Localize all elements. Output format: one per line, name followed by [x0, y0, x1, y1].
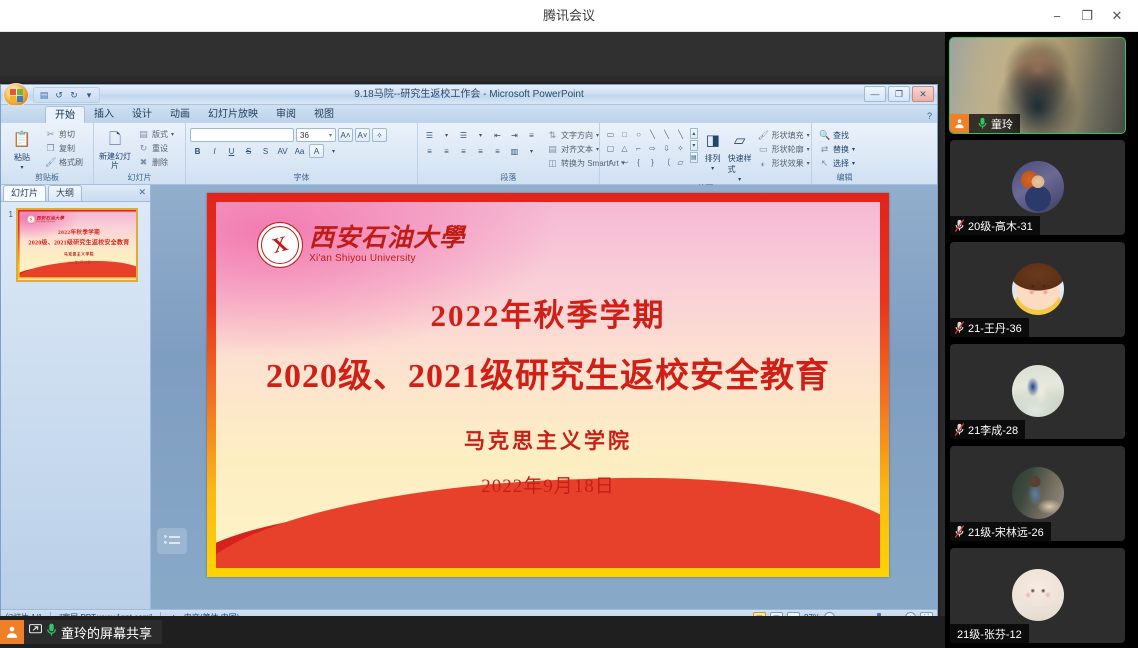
- select-caret-icon: ▾: [852, 160, 855, 167]
- group-label-clipboard: 剪贴板: [5, 172, 89, 184]
- font-name-input[interactable]: [190, 128, 294, 142]
- bulleted-list-caret-icon[interactable]: ▾: [439, 128, 454, 142]
- tab-review[interactable]: 审阅: [267, 106, 305, 123]
- shape-arrowline-icon[interactable]: ╲: [660, 128, 673, 141]
- tab-slideshow[interactable]: 幻灯片放映: [199, 106, 267, 123]
- change-case-icon[interactable]: Aa: [292, 144, 307, 158]
- powerpoint-document-title: 9.18马院--研究生返校工作会 - Microsoft PowerPoint: [1, 85, 937, 105]
- microphone-muted-icon: [950, 318, 964, 337]
- participant-namebar: 21李成-28: [950, 420, 1025, 439]
- shapes-scroller[interactable]: ▴ ▾ ▤: [690, 128, 698, 163]
- participant-name: 童玲: [991, 116, 1013, 132]
- thumb-logo-text: 西安石油大學 Xi'an Shiyou University: [36, 216, 64, 223]
- decrease-font-size-icon[interactable]: A˅: [355, 128, 370, 142]
- text-direction-icon: ⇅: [547, 130, 558, 141]
- shape-triangle-icon[interactable]: △: [618, 142, 631, 155]
- slide-title-block[interactable]: 2022年秋季学期 2020级、2021级研究生返校安全教育: [216, 290, 880, 397]
- participant-name: 21级-宋林远-26: [968, 524, 1044, 540]
- thumb-date: 2022年9月18日: [20, 260, 138, 265]
- university-logo: X 西安石油大學 Xi'an Shiyou University: [257, 222, 465, 268]
- shape-arc-icon[interactable]: ◜: [604, 156, 617, 169]
- ribbon-group-font: 36▾ A˄ A˅ ✧ B I U S S AV Aa: [185, 123, 417, 184]
- slide-title-line2: 2020级、2021级研究生返校安全教育: [216, 348, 880, 397]
- slide-surface[interactable]: X 西安石油大學 Xi'an Shiyou University 2022年秋季…: [207, 193, 889, 577]
- shape-effects-label: 形状效果: [772, 158, 804, 169]
- powerpoint-workspace: 幻灯片 大纲 ✕ 1: [1, 185, 937, 609]
- ppt-minimize-icon[interactable]: —: [864, 86, 886, 102]
- font-size-input[interactable]: 36▾: [296, 128, 336, 142]
- new-slide-icon: 🗋: [103, 128, 127, 151]
- shape-connector-icon[interactable]: ╲: [674, 128, 687, 141]
- columns-caret-icon[interactable]: ▾: [524, 144, 539, 158]
- ribbon-group-paragraph: ☰ ▾ ☰ ▾ ⇤ ⇥ ≡ ≡ ≡ ≡: [417, 123, 599, 184]
- university-seal-icon: X: [257, 222, 303, 268]
- participant-tile-licheng[interactable]: 21李成-28: [950, 344, 1125, 439]
- reset-button[interactable]: ↻ 重设: [135, 142, 177, 155]
- underline-icon[interactable]: U: [224, 144, 239, 158]
- thumb-title-block: 2022年秋季学期 2020级、2021级研究生返校安全教育: [20, 227, 138, 246]
- participant-strip[interactable]: 童玲 20级-高木-31 21-王丹-36: [945, 32, 1138, 648]
- group-label-slides: 幻灯片: [98, 172, 181, 184]
- thumbnail-item[interactable]: 1 X: [5, 208, 146, 282]
- avatar: [1012, 160, 1064, 212]
- thumb-logo-en: Xi'an Shiyou University: [36, 221, 64, 223]
- avatar: [1012, 568, 1064, 620]
- shape-effects-caret-icon: ▾: [807, 160, 810, 167]
- shape-corner-icon[interactable]: ⌐: [632, 142, 645, 155]
- participant-namebar: 20级-高木-31: [950, 216, 1040, 235]
- format-painter-label: 格式刷: [59, 157, 83, 168]
- maximize-icon[interactable]: ❐: [1072, 1, 1102, 31]
- slide-thumbnail-content: X 西安石油大學 Xi'an Shiyou University: [18, 210, 138, 279]
- participant-name: 21级-张芬-12: [950, 626, 1022, 642]
- slide-thumbnail-1[interactable]: X 西安石油大學 Xi'an Shiyou University: [16, 208, 138, 282]
- bulleted-list-icon[interactable]: ☰: [422, 128, 437, 142]
- participant-namebar: 21级-张芬-12: [950, 624, 1029, 643]
- thumb-subtitle: 马克思主义学院: [20, 252, 138, 257]
- thumb-logo-cn: 西安石油大學: [36, 216, 64, 220]
- shape-line-icon[interactable]: ╲: [646, 128, 659, 141]
- find-label: 查找: [833, 130, 849, 141]
- microphone-muted-icon: [950, 420, 964, 439]
- clipboard-icon: 📋: [10, 128, 34, 151]
- arrange-button[interactable]: ◨ 排列 ▾: [701, 128, 725, 172]
- outline-toggle-button[interactable]: [157, 528, 187, 554]
- microphone-muted-icon: [950, 216, 964, 235]
- delete-label: 删除: [152, 157, 168, 168]
- paste-button[interactable]: 📋 粘贴 ▾: [5, 127, 39, 171]
- group-label-editing: 编辑: [816, 172, 873, 184]
- distribute-icon[interactable]: ≡: [490, 144, 505, 158]
- participant-name: 21李成-28: [968, 422, 1018, 438]
- powerpoint-window: ▤ ↺ ↻ ▾ 9.18马院--研究生返校工作会 - Microsoft Pow…: [0, 84, 938, 626]
- shape-rect-icon[interactable]: ▭: [604, 128, 617, 141]
- slide-subtitle-block[interactable]: 马克思主义学院 2022年9月18日: [216, 425, 880, 498]
- align-text-label: 对齐文本: [561, 144, 593, 155]
- tencent-meeting-window: 腾讯会议 − ❐ ✕ ▤ ↺ ↻ ▾ 9.18马院--研究生返校工作会 - Mi…: [0, 0, 1138, 648]
- paste-dropdown-icon[interactable]: ▾: [20, 164, 23, 171]
- character-spacing-icon[interactable]: AV: [275, 144, 290, 158]
- shape-brace-right-icon[interactable]: }: [646, 156, 659, 169]
- shapes-gallery[interactable]: ▭ □ ○ ╲ ╲ ╲ ▢ △ ⌐ ⇨ ⇩ ✧ ◜: [604, 128, 687, 169]
- ppt-restore-icon[interactable]: ❐: [888, 86, 910, 102]
- shape-arrow-right-icon[interactable]: ⇨: [646, 142, 659, 155]
- thumb-seal-glyph: X: [29, 217, 33, 221]
- shapes-more-icon[interactable]: ▤: [690, 152, 698, 163]
- avatar: [1012, 262, 1064, 314]
- justify-icon[interactable]: ≡: [473, 144, 488, 158]
- participant-tile-tongling[interactable]: 童玲: [950, 38, 1125, 133]
- shape-outline-caret-icon: ▾: [807, 146, 810, 153]
- tab-view[interactable]: 视图: [305, 106, 343, 123]
- shape-curve-icon[interactable]: 〜: [618, 156, 631, 169]
- shape-square-icon[interactable]: □: [618, 128, 631, 141]
- tab-animations[interactable]: 动画: [161, 106, 199, 123]
- arrange-icon: ◨: [701, 129, 725, 152]
- align-right-icon[interactable]: ≡: [456, 144, 471, 158]
- share-owner-name: 童玲的屏幕共享: [61, 623, 152, 642]
- university-name-en: Xi'an Shiyou University: [309, 254, 465, 264]
- participant-namebar: 童玲: [950, 114, 1020, 133]
- scissors-icon: ✂: [45, 129, 56, 140]
- participant-tile-songlinyuan[interactable]: 21级-宋林远-26: [950, 446, 1125, 541]
- italic-icon[interactable]: I: [207, 144, 222, 158]
- shape-fill-icon: 🖌: [758, 130, 769, 141]
- group-label-paragraph: 段落: [422, 172, 595, 184]
- text-direction-label: 文字方向: [561, 130, 593, 141]
- clear-formatting-icon[interactable]: ✧: [372, 128, 387, 142]
- participant-tile-zhangfen[interactable]: 21级-张芬-12: [950, 548, 1125, 643]
- ribbon-group-drawing: ▭ □ ○ ╲ ╲ ╲ ▢ △ ⌐ ⇨ ⇩ ✧ ◜: [599, 123, 811, 184]
- cut-button[interactable]: ✂ 剪切: [42, 128, 86, 141]
- format-painter-button[interactable]: 🖌 格式刷: [42, 156, 86, 169]
- select-label: 选择: [833, 158, 849, 169]
- meeting-titlebar: 腾讯会议 − ❐ ✕: [0, 0, 1138, 32]
- slide-date: 2022年9月18日: [216, 471, 880, 498]
- participant-tile-wangdan[interactable]: 21-王丹-36: [950, 242, 1125, 337]
- tab-insert[interactable]: 插入: [85, 106, 123, 123]
- avatar: [1012, 466, 1064, 518]
- arrange-label: 排列: [705, 153, 721, 164]
- format-painter-icon: 🖌: [45, 157, 56, 168]
- share-indicator[interactable]: 童玲的屏幕共享: [0, 620, 162, 644]
- tab-home[interactable]: 开始: [45, 106, 85, 123]
- ribbon-group-clipboard: 📋 粘贴 ▾ ✂ 剪切 ❐ 复制: [1, 123, 93, 184]
- participant-name: 20级-高木-31: [968, 218, 1033, 234]
- slide-department: 马克思主义学院: [216, 425, 880, 455]
- slide-title-line1: 2022年秋季学期: [216, 290, 880, 335]
- align-text-icon: ▤: [547, 144, 558, 155]
- thumbnail-list: 1 X: [1, 202, 150, 609]
- shape-fill-label: 形状填充: [772, 130, 804, 141]
- thumbnail-tabbar: 幻灯片 大纲 ✕: [1, 185, 150, 202]
- shape-outline-label: 形状轮廓: [772, 144, 804, 155]
- share-indicator-body: 童玲的屏幕共享: [24, 620, 162, 644]
- thumbnail-number: 1: [5, 208, 13, 219]
- decrease-indent-icon[interactable]: ⇤: [490, 128, 505, 142]
- shape-brace-left-icon[interactable]: {: [632, 156, 645, 169]
- text-shadow-icon[interactable]: S: [258, 144, 273, 158]
- smartart-icon: ◫: [547, 158, 558, 169]
- shape-effects-icon: ◐: [758, 159, 769, 169]
- font-color-caret-icon[interactable]: ▾: [326, 144, 341, 158]
- layout-icon: ▤: [138, 129, 149, 140]
- select-button[interactable]: ↖ 选择 ▾: [816, 157, 858, 170]
- close-icon[interactable]: ✕: [1102, 1, 1132, 31]
- delete-button[interactable]: ✖ 删除: [135, 156, 177, 169]
- avatar: [1012, 364, 1064, 416]
- minimize-icon[interactable]: −: [1042, 1, 1072, 31]
- microphone-on-icon: [973, 114, 987, 133]
- copy-button[interactable]: ❐ 复制: [42, 142, 86, 155]
- shape-fill-caret-icon: ▾: [807, 132, 810, 139]
- screen-share-icon: [29, 623, 42, 641]
- shape-circle-icon[interactable]: ○: [632, 128, 645, 141]
- help-icon[interactable]: ?: [927, 111, 932, 121]
- increase-indent-icon[interactable]: ⇥: [507, 128, 522, 142]
- find-icon: 🔍: [819, 130, 830, 141]
- ribbon-tabbar: 开始 插入 设计 动画 幻灯片放映 审阅 视图 ?: [1, 105, 937, 123]
- paragraph-row-top: ☰ ▾ ☰ ▾ ⇤ ⇥ ≡: [422, 128, 539, 142]
- slide-thumbnail-pane: 幻灯片 大纲 ✕ 1: [1, 185, 151, 609]
- university-name-cn: 西安石油大學: [309, 226, 465, 251]
- select-icon: ↖: [819, 158, 830, 169]
- cut-label: 剪切: [59, 129, 75, 140]
- ppt-close-icon[interactable]: ✕: [912, 86, 934, 102]
- microphone-on-icon: [46, 623, 57, 642]
- delete-icon: ✖: [138, 157, 149, 168]
- layout-button[interactable]: ▤ 版式 ▾: [135, 128, 177, 141]
- shape-callout-icon[interactable]: ▱: [674, 156, 687, 169]
- thumb-slide-inner: X 西安石油大學 Xi'an Shiyou University: [20, 212, 138, 277]
- find-button[interactable]: 🔍 查找: [816, 129, 858, 142]
- meeting-window-controls: − ❐ ✕: [1042, 0, 1132, 32]
- ribbon-content: 📋 粘贴 ▾ ✂ 剪切 ❐ 复制: [1, 123, 937, 185]
- shape-roundrect-icon[interactable]: ▢: [604, 142, 617, 155]
- person-icon: [0, 620, 24, 644]
- tab-design[interactable]: 设计: [123, 106, 161, 123]
- microphone-muted-icon: [950, 522, 964, 541]
- slide-gradient-frame: X 西安石油大學 Xi'an Shiyou University 2022年秋季…: [207, 193, 889, 577]
- font-row-top: 36▾ A˄ A˅ ✧: [190, 128, 413, 142]
- shape-star-icon[interactable]: ✧: [674, 142, 687, 155]
- layout-caret-icon: ▾: [171, 131, 174, 138]
- shape-outline-button[interactable]: ▭ 形状轮廓 ▾: [755, 143, 813, 156]
- shape-bracket-icon[interactable]: 〔: [660, 156, 673, 169]
- replace-label: 替换: [833, 144, 849, 155]
- stage-background: [0, 32, 945, 76]
- participant-namebar: 21级-宋林远-26: [950, 522, 1051, 541]
- font-size-caret-icon[interactable]: ▾: [325, 132, 332, 139]
- tab-outline[interactable]: 大纲: [48, 185, 82, 201]
- font-size-value: 36: [300, 131, 309, 140]
- new-slide-button[interactable]: 🗋 新建幻灯片: [98, 127, 132, 170]
- thumb-seal-icon: X: [27, 215, 35, 223]
- thumb-title-line1: 2022年秋季学期: [20, 227, 138, 235]
- shapes-scroll-down-icon[interactable]: ▾: [690, 140, 698, 151]
- arrange-caret-icon: ▾: [711, 165, 714, 172]
- participant-name: 21-王丹-36: [968, 320, 1022, 336]
- tab-slides[interactable]: 幻灯片: [3, 185, 46, 201]
- thumb-title-line2: 2020级、2021级研究生返校安全教育: [20, 238, 138, 247]
- align-center-icon[interactable]: ≡: [439, 144, 454, 158]
- layout-label: 版式: [152, 129, 168, 140]
- shapes-scroll-up-icon[interactable]: ▴: [690, 128, 698, 139]
- bold-icon[interactable]: B: [190, 144, 205, 158]
- powerpoint-titlebar: ▤ ↺ ↻ ▾ 9.18马院--研究生返校工作会 - Microsoft Pow…: [1, 85, 937, 105]
- quick-styles-icon: ▱: [728, 129, 752, 152]
- paste-label: 粘贴: [14, 152, 30, 163]
- seal-glyph: X: [270, 233, 290, 257]
- columns-icon[interactable]: ▥: [507, 144, 522, 158]
- slide-editor-canvas[interactable]: X 西安石油大學 Xi'an Shiyou University 2022年秋季…: [151, 185, 937, 609]
- numbered-list-icon[interactable]: ☰: [456, 128, 471, 142]
- thumb-slide-frame: X 西安石油大學 Xi'an Shiyou University: [18, 210, 138, 279]
- screen-share-taskbar: 童玲的屏幕共享: [0, 616, 945, 648]
- new-slide-label: 新建幻灯片: [98, 152, 132, 170]
- font-color-icon[interactable]: A: [309, 144, 324, 158]
- font-row-bottom: B I U S S AV Aa A ▾: [190, 144, 413, 158]
- shared-screen-stage: ▤ ↺ ↻ ▾ 9.18马院--研究生返校工作会 - Microsoft Pow…: [0, 32, 945, 648]
- shape-outline-icon: ▭: [758, 144, 769, 155]
- shape-arrow-down-icon[interactable]: ⇩: [660, 142, 673, 155]
- align-left-icon[interactable]: ≡: [422, 144, 437, 158]
- reset-icon: ↻: [138, 143, 149, 154]
- increase-font-size-icon[interactable]: A˄: [338, 128, 353, 142]
- close-pane-icon[interactable]: ✕: [138, 187, 146, 198]
- ribbon-group-editing: 🔍 查找 ⇄ 替换 ▾ ↖ 选择 ▾: [811, 123, 877, 184]
- group-label-font: 字体: [190, 172, 413, 184]
- participant-namebar: 21-王丹-36: [950, 318, 1029, 337]
- copy-icon: ❐: [45, 143, 56, 154]
- quick-styles-caret-icon: ▾: [738, 176, 741, 183]
- meeting-title: 腾讯会议: [0, 0, 1138, 32]
- quick-styles-label: 快速样式: [728, 153, 752, 175]
- slide-content-area[interactable]: X 西安石油大學 Xi'an Shiyou University 2022年秋季…: [216, 202, 880, 568]
- university-logo-text: 西安石油大學 Xi'an Shiyou University: [309, 226, 465, 264]
- reset-label: 重设: [152, 143, 168, 154]
- shape-fill-button[interactable]: 🖌 形状填充 ▾: [755, 129, 813, 142]
- numbered-list-caret-icon[interactable]: ▾: [473, 128, 488, 142]
- shape-effects-button[interactable]: ◐ 形状效果 ▾: [755, 157, 813, 170]
- thumb-logo: X 西安石油大學 Xi'an Shiyou University: [27, 215, 64, 223]
- replace-icon: ⇄: [819, 144, 830, 155]
- quick-styles-button[interactable]: ▱ 快速样式 ▾: [728, 128, 752, 183]
- participant-tile-gaomu[interactable]: 20级-高木-31: [950, 140, 1125, 235]
- strikethrough-icon[interactable]: S: [241, 144, 256, 158]
- thumb-sub-block: 马克思主义学院 2022年9月18日: [20, 252, 138, 265]
- replace-caret-icon: ▾: [852, 146, 855, 153]
- paragraph-row-bottom: ≡ ≡ ≡ ≡ ≡ ▥ ▾: [422, 144, 539, 158]
- line-spacing-icon[interactable]: ≡: [524, 128, 539, 142]
- copy-label: 复制: [59, 143, 75, 154]
- outline-icon: [164, 535, 180, 547]
- person-icon: [950, 114, 969, 133]
- ribbon-group-slides: 🗋 新建幻灯片 ▤ 版式 ▾ ↻ 重设: [93, 123, 185, 184]
- replace-button[interactable]: ⇄ 替换 ▾: [816, 143, 858, 156]
- powerpoint-window-controls: — ❐ ✕: [864, 86, 934, 102]
